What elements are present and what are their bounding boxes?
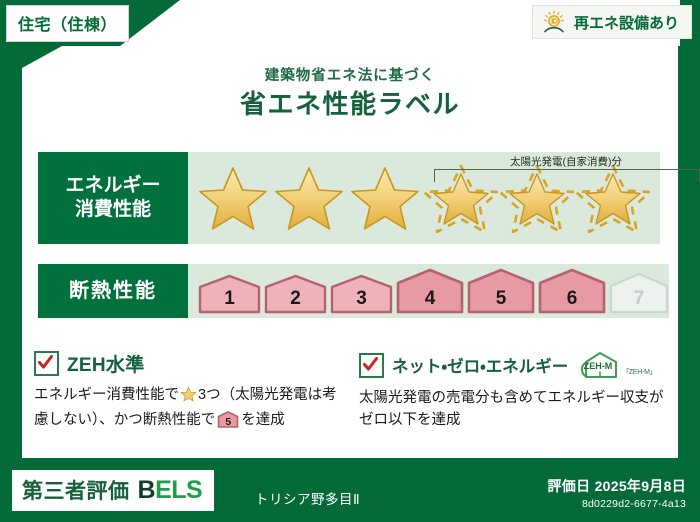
energy-performance-row-label: エネルギー 消費性能 — [38, 152, 188, 244]
evaluation-date-label: 評価日 — [547, 478, 590, 494]
insulation-grade-inline-value: 5 — [217, 417, 239, 428]
solar-self-consumption-note: 太陽光発電(自家消費)分 — [432, 154, 700, 169]
bels-jp-label: 第三者評価 — [22, 475, 130, 505]
insulation-grade-value: 1 — [198, 288, 261, 310]
criteria-nze-heading-row: ネット・ゼロ・エネルギー ZEH-M 「ZEH-M」 — [359, 350, 670, 380]
energy-label-line2: 消費性能 — [75, 198, 151, 222]
star-filled — [348, 163, 422, 233]
housing-type-tab[interactable]: 住宅（住棟） — [6, 5, 129, 42]
bels-logo: BELS — [138, 476, 203, 505]
insulation-grade-badge: 6 — [538, 268, 606, 314]
star-filled — [272, 163, 346, 233]
criteria-zeh-heading: ZEH水準 — [67, 350, 145, 377]
svg-text:ZEH-M: ZEH-M — [584, 361, 613, 371]
criteria-section: ZEH水準 エネルギー消費性能で3つ（太陽光発電は考慮しない）、かつ断熱性能で5… — [34, 350, 670, 432]
energy-label-line1: エネルギー — [65, 174, 160, 198]
insulation-grade-badge: 3 — [330, 274, 393, 314]
energy-performance-panel: 太陽光発電(自家消費)分 — [188, 152, 660, 244]
label-title: 省エネ性能ラベル — [0, 84, 700, 121]
insulation-grade-badge: 4 — [396, 268, 464, 314]
insulation-grade-badge: 2 — [264, 274, 327, 314]
criteria-nze-body: 太陽光発電の売電分も含めてエネルギー収支がゼロ以下を達成 — [359, 387, 670, 432]
criteria-zeh-body: エネルギー消費性能で3つ（太陽光発電は考慮しない）、かつ断熱性能で5を達成 — [34, 384, 345, 432]
energy-performance-row: エネルギー 消費性能 太陽光発電(自家消費)分 — [38, 152, 660, 244]
project-name: トリシア野多目Ⅱ — [255, 488, 360, 508]
bels-certification-badge: 第三者評価 BELS — [12, 470, 214, 511]
zeh-m-logo: ZEH-M 「ZEH-M」 — [578, 350, 656, 380]
bels-logo-b: B — [138, 476, 156, 504]
star-icon — [180, 390, 197, 406]
criteria-zeh-heading-row: ZEH水準 — [34, 350, 345, 377]
insulation-grade-badge: 5 — [467, 268, 535, 314]
solar-range-bracket — [434, 169, 700, 182]
insulation-grade-badge-inactive: 7 — [609, 272, 669, 314]
insulation-performance-row-label: 断熱性能 — [38, 264, 188, 318]
label-subtitle: 建築物省エネ法に基づく — [0, 64, 700, 85]
insulation-grade-value: 2 — [264, 288, 327, 310]
zeh-m-logo-caption: 「ZEH-M」 — [622, 367, 656, 380]
check-icon[interactable] — [34, 351, 59, 376]
evaluation-date-row: 評価日 2025年9月8日 — [547, 476, 686, 496]
criteria-zeh-text-part1: エネルギー消費性能で — [34, 387, 179, 403]
check-icon[interactable] — [359, 353, 384, 378]
insulation-grade-value: 3 — [330, 288, 393, 310]
energy-performance-label: 住宅（住棟） 再エネ設備あり 建築物省エネ法に基づく 省エ — [0, 0, 700, 522]
criteria-zeh-standard: ZEH水準 エネルギー消費性能で3つ（太陽光発電は考慮しない）、かつ断熱性能で5… — [34, 350, 345, 432]
insulation-grade-inline-icon: 5 — [217, 411, 239, 428]
insulation-performance-row: 断熱性能 1 2 3 4 — [38, 264, 660, 318]
housing-type-tab-label: 住宅（住棟） — [18, 17, 117, 34]
insulation-grade-value: 7 — [609, 288, 669, 310]
insulation-grade-list: 1 2 3 4 5 — [188, 268, 669, 314]
renewable-equipment-badge: 再エネ設備あり — [532, 5, 692, 39]
criteria-net-zero-energy: ネット・ゼロ・エネルギー ZEH-M 「ZEH-M」 太陽光発電の売電分も含めて… — [359, 350, 670, 432]
solar-sun-icon — [541, 10, 567, 34]
insulation-performance-panel: 1 2 3 4 5 — [188, 264, 669, 318]
bels-logo-els: ELS — [155, 476, 202, 504]
insulation-grade-value: 4 — [396, 288, 464, 310]
insulation-grade-badge: 1 — [198, 274, 261, 314]
evaluation-meta: 評価日 2025年9月8日 8d0229d2-6677-4a13 — [547, 476, 686, 510]
insulation-label: 断熱性能 — [69, 279, 157, 304]
insulation-grade-value: 5 — [467, 288, 535, 310]
insulation-grade-value: 6 — [538, 288, 606, 310]
criteria-nze-heading: ネット・ゼロ・エネルギー — [392, 353, 568, 377]
footer-bar: 第三者評価 BELS トリシア野多目Ⅱ 評価日 2025年9月8日 8d0229… — [0, 464, 700, 522]
star-filled — [196, 163, 270, 233]
evaluation-id: 8d0229d2-6677-4a13 — [547, 498, 686, 510]
renewable-equipment-badge-label: 再エネ設備あり — [574, 12, 679, 33]
criteria-zeh-text-part3: を達成 — [241, 412, 285, 428]
evaluation-date-value: 2025年9月8日 — [595, 478, 686, 494]
